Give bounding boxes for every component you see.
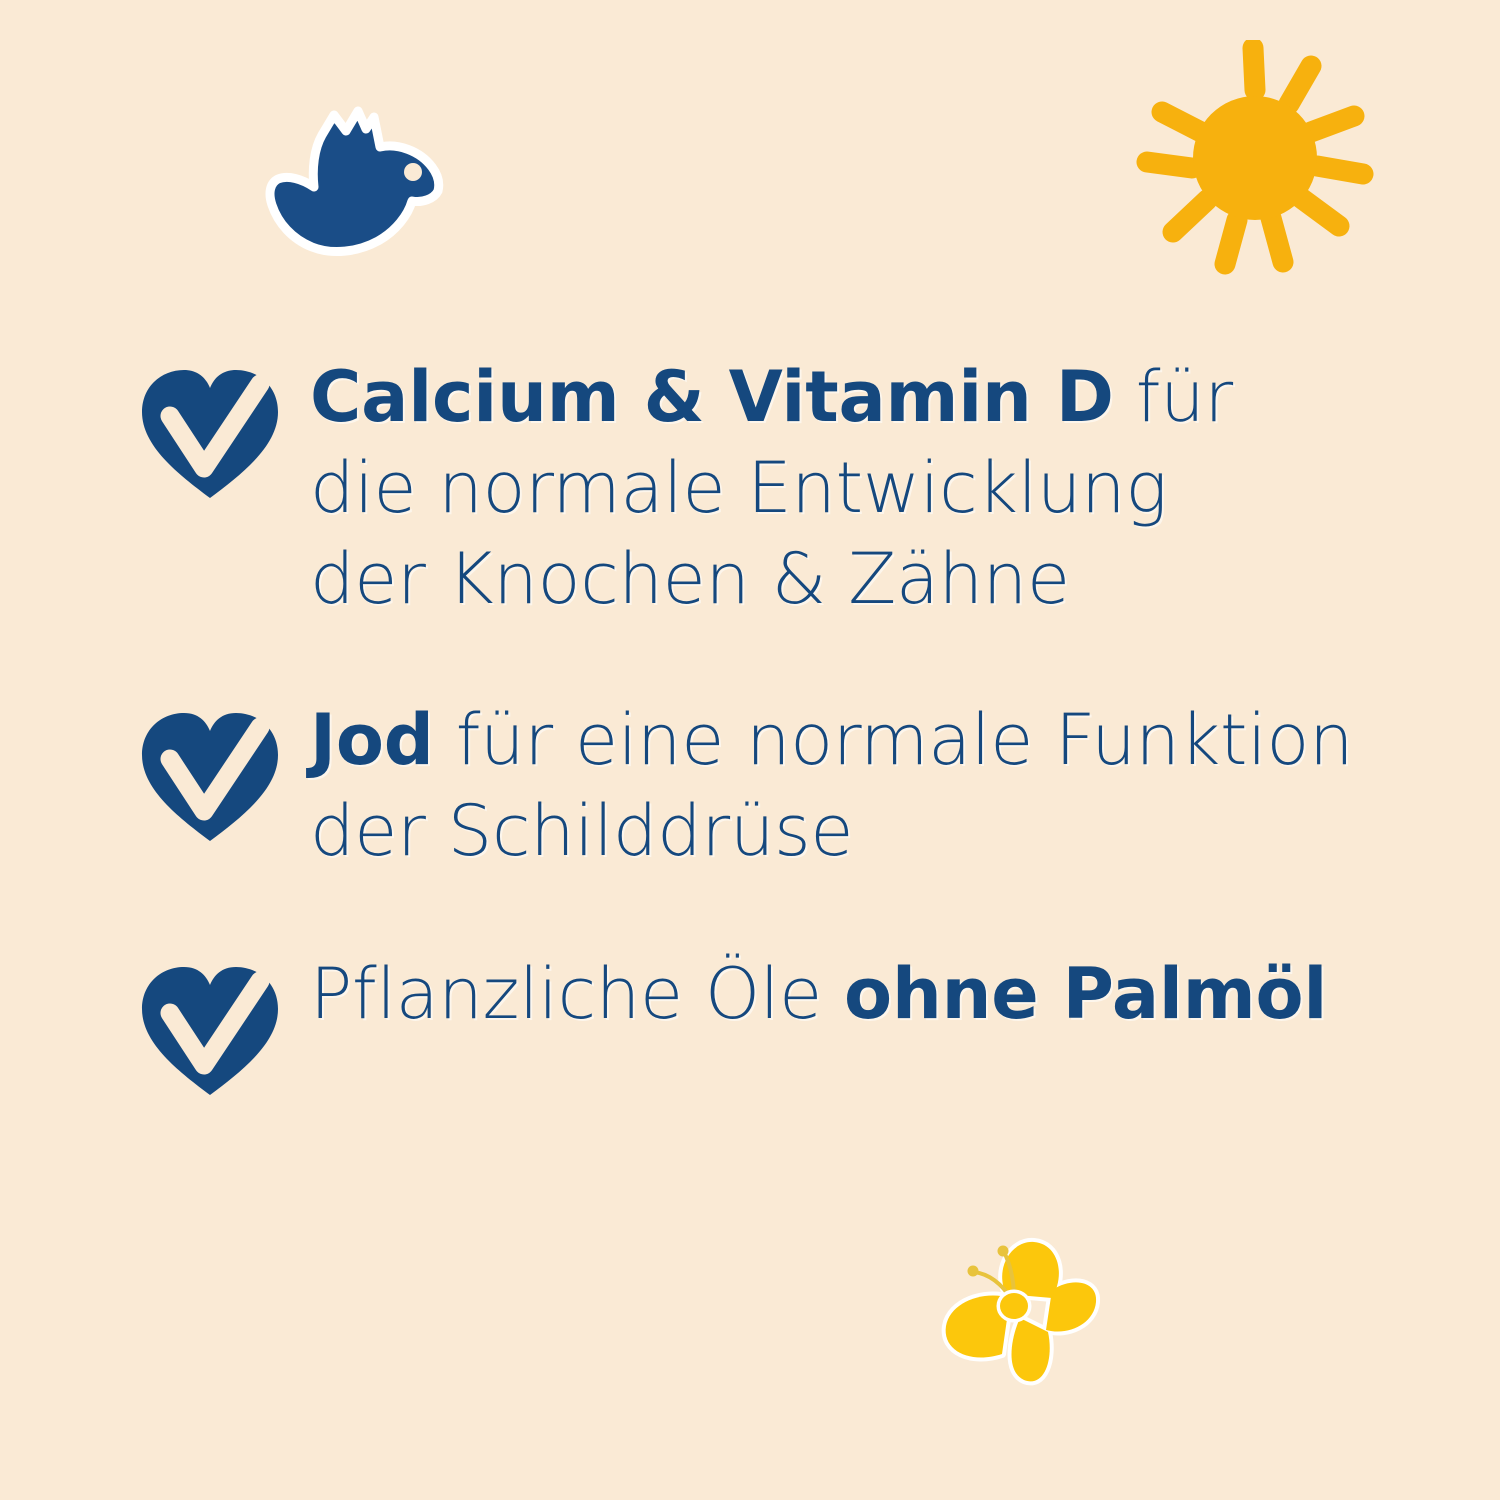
benefit-item: Jod für eine normale Funktion der Schild…: [0, 695, 1500, 877]
benefit-item: Pflanzliche Öle ohne Palmöl: [0, 949, 1500, 1097]
product-benefits-poster: Calcium & Vitamin D für die normale Entw…: [0, 0, 1500, 1500]
butterfly-icon: [928, 1232, 1118, 1402]
sun-icon: [1135, 40, 1375, 280]
benefit-rest: Pflanzliche Öle: [310, 953, 844, 1035]
benefit-rest: für eine normale Funktion der Schilddrüs…: [310, 699, 1353, 872]
heart-check-icon: [138, 965, 282, 1097]
benefit-item: Calcium & Vitamin D für die normale Entw…: [0, 352, 1500, 625]
heart-check-icon: [138, 711, 282, 843]
benefit-text: Calcium & Vitamin D für die normale Entw…: [310, 352, 1295, 625]
bird-icon: [262, 105, 452, 265]
benefit-text: Jod für eine normale Funktion der Schild…: [310, 695, 1370, 877]
benefit-bold-lead: Jod: [310, 699, 434, 781]
benefits-list: Calcium & Vitamin D für die normale Entw…: [0, 352, 1500, 1097]
heart-check-icon: [138, 368, 282, 500]
benefit-bold-lead: Calcium & Vitamin D: [310, 356, 1114, 438]
benefit-bold-tail: ohne Palmöl: [844, 953, 1327, 1035]
benefit-text: Pflanzliche Öle ohne Palmöl: [310, 949, 1370, 1040]
